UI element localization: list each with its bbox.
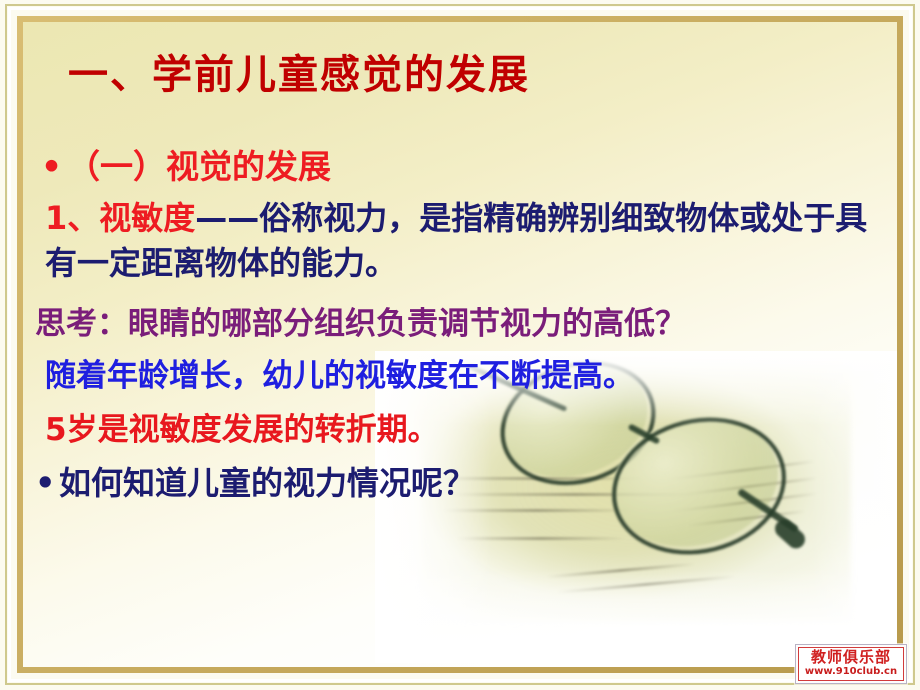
age-growth-statement: 随着年龄增长，幼儿的视敏度在不断提高。 — [45, 350, 634, 395]
bullet-icon: • — [35, 464, 59, 502]
closing-question-label: 如何知道儿童的视力情况呢？ — [59, 464, 475, 502]
watermark-logo[interactable]: 教师俱乐部 www.910club.cn — [795, 644, 907, 684]
definition-term: 1、视敏度 — [45, 199, 195, 237]
watermark-logo-name: 教师俱乐部 — [811, 650, 891, 665]
slide: 一、学前儿童感觉的发展 •（一）视觉的发展 1、视敏度——俗称视力，是指精确辨别… — [0, 0, 920, 690]
definition-line: 1、视敏度——俗称视力，是指精确辨别细致物体或处于具有一定距离物体的能力。 — [45, 196, 885, 287]
watermark-logo-url: www.910club.cn — [805, 665, 897, 678]
section-heading: •（一）视觉的发展 — [41, 140, 331, 188]
text-content: 一、学前儿童感觉的发展 •（一）视觉的发展 1、视敏度——俗称视力，是指精确辨别… — [23, 22, 897, 667]
page-title: 一、学前儿童感觉的发展 — [68, 42, 530, 100]
thinking-question: 思考：眼睛的哪部分组织负责调节视力的高低？ — [35, 298, 686, 343]
slide-canvas: 一、学前儿童感觉的发展 •（一）视觉的发展 1、视敏度——俗称视力，是指精确辨别… — [23, 22, 897, 667]
watermark-logo-inner: 教师俱乐部 www.910club.cn — [798, 647, 904, 681]
section-heading-label: （一）视觉的发展 — [67, 147, 331, 186]
closing-question: •如何知道儿童的视力情况呢？ — [35, 458, 475, 504]
bullet-icon: • — [41, 147, 67, 186]
turning-point-statement: 5岁是视敏度发展的转折期。 — [45, 404, 439, 449]
